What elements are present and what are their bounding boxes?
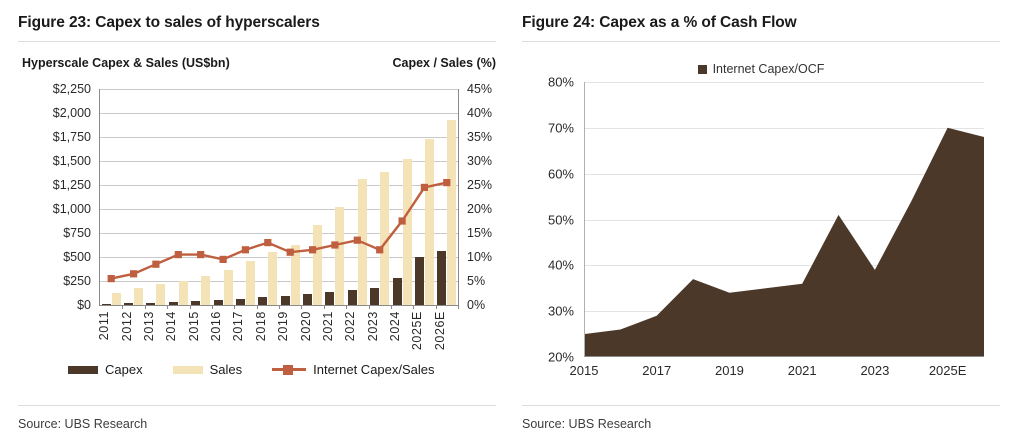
x-tick-label: 2023: [860, 363, 889, 378]
y-tick-label: 60%: [548, 166, 584, 181]
x-tick-mark: [436, 305, 437, 309]
line-marker: [242, 246, 249, 253]
line-marker: [287, 249, 294, 256]
line-marker: [108, 275, 115, 282]
line-marker: [443, 179, 450, 186]
x-tick-label: 2016: [209, 311, 223, 341]
y-tick-label: 30%: [548, 304, 584, 319]
figure-23-right-axis-caption: Capex / Sales (%): [392, 56, 496, 70]
line-marker: [421, 184, 428, 191]
x-tick-label: 2023: [366, 311, 380, 341]
x-tick-mark: [301, 305, 302, 309]
x-tick-label: 2012: [120, 311, 134, 341]
x-tick-mark: [458, 305, 459, 309]
x-tick-mark: [212, 305, 213, 309]
y-tick-label: $500: [63, 250, 100, 264]
x-tick-label: 2015: [187, 311, 201, 341]
x-tick-label: 2022: [343, 311, 357, 341]
legend-swatch: [173, 366, 203, 374]
figure-23-legend: CapexSalesInternet Capex/Sales: [68, 362, 488, 377]
x-tick-label: 2017: [231, 311, 245, 341]
legend-swatch: [68, 366, 98, 374]
legend-item: Internet Capex/Sales: [272, 362, 434, 377]
y-tick-label: 70%: [548, 120, 584, 135]
figure-24-panel: Figure 24: Capex as a % of Cash Flow Int…: [522, 0, 1022, 448]
legend-label: Sales: [210, 362, 243, 377]
figure-24-legend: Internet Capex/OCF: [522, 62, 1000, 76]
x-tick-label: 2025E: [929, 363, 967, 378]
figure-24-title: Figure 24: Capex as a % of Cash Flow: [522, 0, 1022, 32]
legend-label: Capex: [105, 362, 143, 377]
line-marker: [331, 241, 338, 248]
figure-23-plot-area: $0$250$500$750$1,000$1,250$1,500$1,750$2…: [100, 89, 458, 305]
legend-item: Capex: [68, 362, 143, 377]
x-tick-label: 2014: [164, 311, 178, 341]
x-tick-label: 2025E: [410, 311, 424, 350]
y2-tick-label: 5%: [458, 274, 485, 288]
y2-tick-label: 15%: [458, 226, 492, 240]
y2-tick-label: 30%: [458, 154, 492, 168]
x-tick-label: 2011: [97, 311, 111, 340]
x-tick-label: 2017: [642, 363, 671, 378]
figure-23-source: Source: UBS Research: [18, 417, 147, 431]
legend-line-marker-icon: [272, 368, 306, 371]
x-tick-mark: [234, 305, 235, 309]
line-marker: [175, 251, 182, 258]
legend-label-internet-capex-ocf: Internet Capex/OCF: [713, 62, 825, 76]
line-marker: [220, 256, 227, 263]
y-tick-label: 40%: [548, 258, 584, 273]
x-tick-label: 2019: [715, 363, 744, 378]
line-marker: [130, 270, 137, 277]
x-tick-mark: [346, 305, 347, 309]
line-marker: [376, 246, 383, 253]
figure-24-footer-rule: [522, 405, 1000, 406]
x-tick-label: 2020: [299, 311, 313, 341]
y-tick-label: $1,500: [53, 154, 100, 168]
y-tick-label: $0: [77, 298, 100, 312]
x-tick-mark: [122, 305, 123, 309]
y2-tick-label: 10%: [458, 250, 492, 264]
x-tick-label: 2021: [788, 363, 817, 378]
x-tick-mark: [279, 305, 280, 309]
x-tick-mark: [413, 305, 414, 309]
y-tick-label: $2,000: [53, 106, 100, 120]
y-tick-label: $1,250: [53, 178, 100, 192]
x-tick-mark: [324, 305, 325, 309]
line-marker: [399, 217, 406, 224]
x-tick-mark: [145, 305, 146, 309]
x-tick-mark: [257, 305, 258, 309]
y-tick-label: 50%: [548, 212, 584, 227]
y2-tick-label: 25%: [458, 178, 492, 192]
legend-item: Sales: [173, 362, 243, 377]
x-tick-label: 2026E: [433, 311, 447, 350]
figure-24-source: Source: UBS Research: [522, 417, 651, 431]
y-tick-label: $250: [63, 274, 100, 288]
legend-label: Internet Capex/Sales: [313, 362, 434, 377]
y-tick-label: $1,000: [53, 202, 100, 216]
x-tick-label: 2015: [570, 363, 599, 378]
x-tick-label: 2013: [142, 311, 156, 341]
figure-23-title: Figure 23: Capex to sales of hyperscaler…: [18, 0, 518, 32]
x-tick-label: 2018: [254, 311, 268, 341]
figure-23-line-series: [100, 89, 458, 305]
y-tick-label: $1,750: [53, 130, 100, 144]
line-marker: [309, 246, 316, 253]
figures-page: Figure 23: Capex to sales of hyperscaler…: [0, 0, 1024, 448]
x-tick-mark: [167, 305, 168, 309]
y2-tick-label: 40%: [458, 106, 492, 120]
figure-23-left-axis-line: [99, 89, 100, 306]
figure-23-footer-rule: [18, 405, 496, 406]
y2-tick-label: 45%: [458, 82, 492, 96]
x-tick-label: 2024: [388, 311, 402, 341]
x-tick-mark: [190, 305, 191, 309]
figure-23-left-axis-caption: Hyperscale Capex & Sales (US$bn): [22, 56, 230, 70]
internet-capex-sales-line: [111, 183, 447, 279]
x-tick-mark: [369, 305, 370, 309]
line-marker: [152, 261, 159, 268]
line-marker: [197, 251, 204, 258]
figure-23-panel: Figure 23: Capex to sales of hyperscaler…: [18, 0, 518, 448]
line-marker: [264, 239, 271, 246]
x-tick-label: 2019: [276, 311, 290, 341]
x-tick-label: 2021: [321, 311, 335, 341]
y2-tick-label: 0%: [458, 298, 485, 312]
legend-swatch-internet-capex-ocf: [698, 65, 707, 74]
x-tick-mark: [391, 305, 392, 309]
figure-23-title-rule: [18, 41, 496, 42]
y2-tick-label: 35%: [458, 130, 492, 144]
y-tick-label: 80%: [548, 75, 584, 90]
y-tick-label: $2,250: [53, 82, 100, 96]
y-tick-label: $750: [63, 226, 100, 240]
figure-23-right-axis-line: [458, 89, 459, 306]
figure-24-title-rule: [522, 41, 1000, 42]
line-marker: [354, 237, 361, 244]
figure-24-axis-frame: [584, 82, 984, 357]
y2-tick-label: 20%: [458, 202, 492, 216]
figure-24-plot-area: 20%30%40%50%60%70%80% 201520172019202120…: [584, 82, 984, 357]
